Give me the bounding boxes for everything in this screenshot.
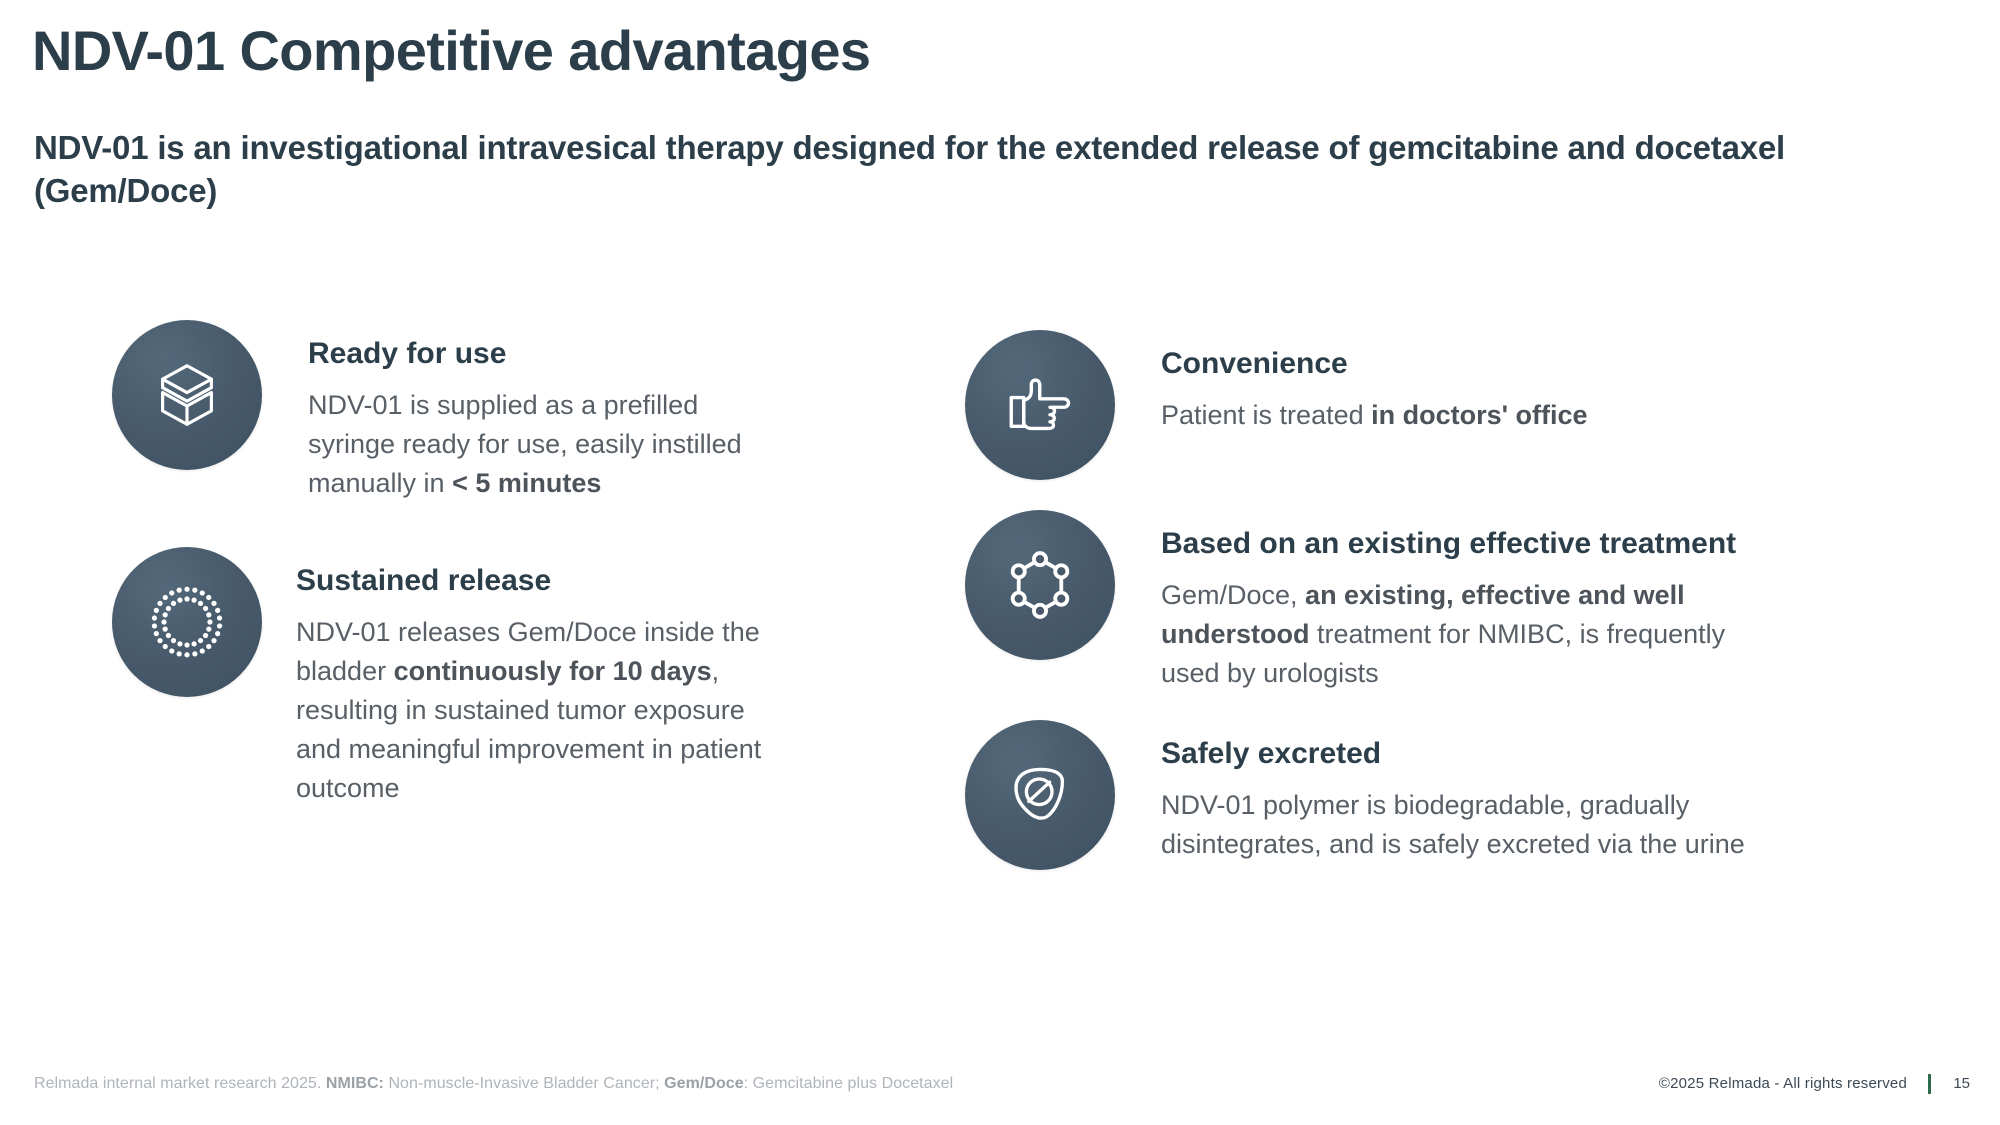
slide: NDV-01 Competitive advantages NDV-01 is … (0, 0, 2000, 1125)
footnote: Relmada internal market research 2025. N… (34, 1074, 953, 1095)
card-sustained-release: Sustained release NDV-01 releases Gem/Do… (112, 547, 766, 807)
card-body: Patient is treated in doctors' office (1161, 396, 1861, 435)
card-safely-excreted: Safely excreted NDV-01 polymer is biodeg… (965, 720, 1781, 870)
layered-cube-icon (112, 320, 262, 470)
card-ready-for-use: Ready for use NDV-01 is supplied as a pr… (112, 320, 760, 503)
dotted-ring-icon (112, 547, 262, 697)
page-title: NDV-01 Competitive advantages (32, 20, 870, 83)
card-text: Ready for use NDV-01 is supplied as a pr… (262, 320, 760, 503)
card-based-on-existing-treatment: Based on an existing effective treatment… (965, 510, 1761, 693)
card-text: Based on an existing effective treatment… (1115, 510, 1761, 693)
copyright-text: ©2025 Relmada - All rights reserved (1659, 1075, 1907, 1092)
card-text: Safely excreted NDV-01 polymer is biodeg… (1115, 720, 1781, 864)
page-number: 15 (1953, 1075, 1970, 1092)
dotted-ring-svg (146, 581, 228, 663)
card-body: NDV-01 polymer is biodegradable, gradual… (1161, 786, 1781, 864)
pointing-hand-icon (965, 330, 1115, 480)
card-title: Sustained release (296, 563, 766, 599)
card-title: Ready for use (308, 336, 760, 372)
card-title: Safely excreted (1161, 736, 1781, 772)
content-area: Ready for use NDV-01 is supplied as a pr… (0, 320, 2000, 1010)
page-subtitle: NDV-01 is an investigational intravesica… (34, 127, 1914, 213)
card-text: Convenience Patient is treated in doctor… (1115, 330, 1861, 435)
page-divider (1928, 1074, 1931, 1094)
card-body: NDV-01 is supplied as a prefilled syring… (308, 386, 760, 503)
droplet-excretion-icon (965, 720, 1115, 870)
card-title: Convenience (1161, 346, 1861, 382)
card-body: Gem/Doce, an existing, effective and wel… (1161, 576, 1761, 693)
card-body: NDV-01 releases Gem/Doce inside the blad… (296, 613, 766, 807)
card-convenience: Convenience Patient is treated in doctor… (965, 330, 1861, 480)
molecule-ring-icon (965, 510, 1115, 660)
card-title: Based on an existing effective treatment (1161, 526, 1761, 562)
card-text: Sustained release NDV-01 releases Gem/Do… (262, 547, 766, 807)
